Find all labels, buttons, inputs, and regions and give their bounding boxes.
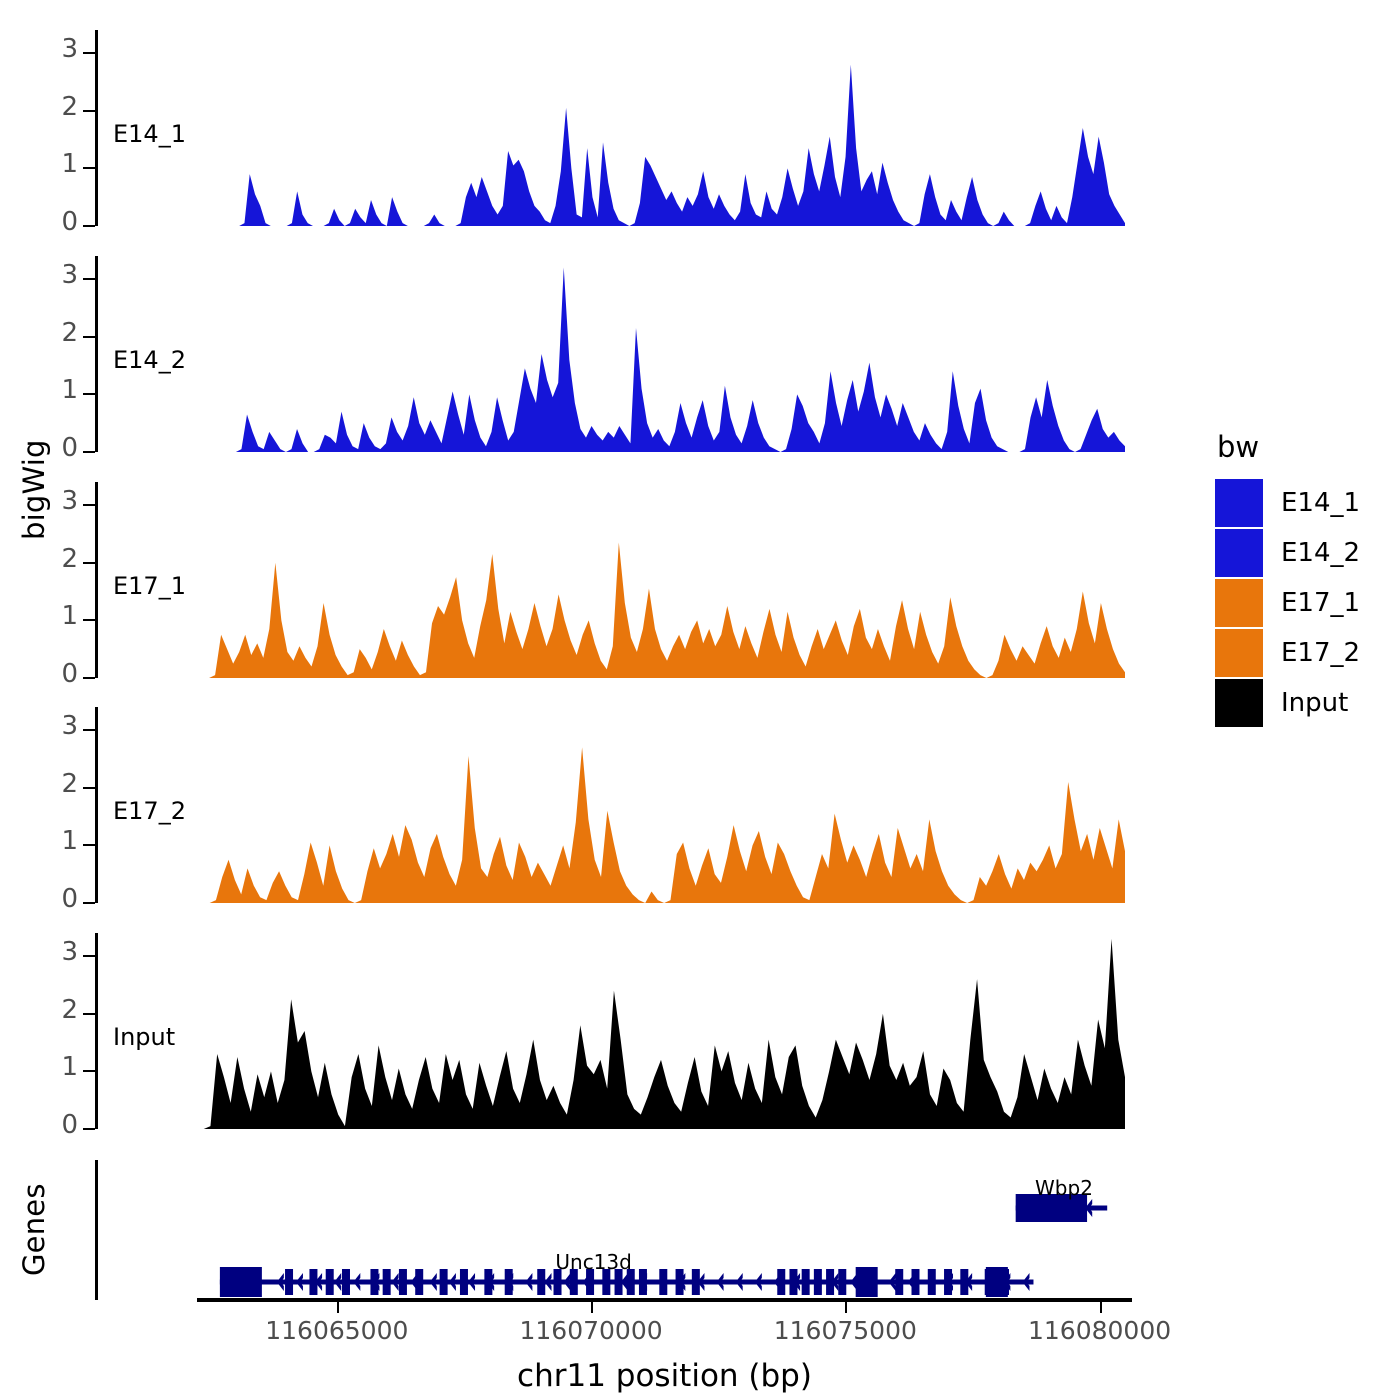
y-tick-E14_1-3 [83, 52, 95, 54]
x-tick-label-116065000: 116065000 [265, 1316, 408, 1345]
y-tick-label-E14_1-3: 3 [0, 36, 78, 62]
y-tick-E17_1-1 [83, 619, 95, 621]
y-tick-Input-0 [83, 1128, 95, 1130]
x-tick-116080000 [1100, 1302, 1102, 1313]
y-tick-E14_1-1 [83, 167, 95, 169]
y-tick-Input-1 [83, 1070, 95, 1072]
y-tick-label-E14_1-2: 2 [0, 94, 78, 120]
genes-axis-line [95, 1160, 98, 1300]
y-tick-E17_1-3 [83, 504, 95, 506]
legend-swatch-E17_1 [1215, 579, 1263, 627]
y-tick-label-E14_2-0: 0 [0, 435, 78, 461]
legend-label-E17_2: E17_2 [1281, 638, 1360, 668]
y-tick-label-E17_1-1: 1 [0, 603, 78, 629]
track-plot-E14_2 [197, 256, 1125, 452]
legend-item-Input[interactable]: Input [1215, 678, 1395, 728]
x-tick-label-116080000: 116080000 [1028, 1316, 1171, 1345]
x-tick-116075000 [845, 1302, 847, 1313]
y-tick-label-E14_2-2: 2 [0, 320, 78, 346]
waveform-E17_1 [197, 482, 1125, 678]
x-tick-116070000 [591, 1302, 593, 1313]
track-plot-Input [197, 933, 1125, 1129]
y-tick-E17_2-3 [83, 729, 95, 731]
legend-swatch-E14_2 [1215, 529, 1263, 577]
track-plot-E14_1 [197, 30, 1125, 226]
legend-item-E14_2[interactable]: E14_2 [1215, 528, 1395, 578]
y-tick-label-E17_2-0: 0 [0, 886, 78, 912]
y-tick-E17_2-1 [83, 844, 95, 846]
legend-item-E17_2[interactable]: E17_2 [1215, 628, 1395, 678]
track-plot-E17_1 [197, 482, 1125, 678]
track-plot-E17_2 [197, 707, 1125, 903]
waveform-Input [197, 933, 1125, 1129]
y-tick-label-Input-1: 1 [0, 1054, 78, 1080]
x-tick-label-116075000: 116075000 [774, 1316, 917, 1345]
track-label-E17_2: E17_2 [113, 797, 186, 825]
y-axis-line-E17_1 [95, 482, 98, 678]
y-tick-label-Input-3: 3 [0, 939, 78, 965]
gene-track [197, 1160, 1125, 1300]
y-tick-label-E14_1-0: 0 [0, 209, 78, 235]
y-tick-Input-2 [83, 1013, 95, 1015]
x-tick-label-116070000: 116070000 [520, 1316, 663, 1345]
legend-item-E14_1[interactable]: E14_1 [1215, 478, 1395, 528]
track-label-Input: Input [113, 1023, 175, 1051]
legend-items: E14_1E14_2E17_1E17_2Input [1215, 478, 1395, 728]
y-axis-label-genes: Genes [14, 1160, 54, 1300]
y-axis-line-E14_2 [95, 256, 98, 452]
y-tick-label-E17_2-3: 3 [0, 713, 78, 739]
y-tick-Input-3 [83, 955, 95, 957]
legend-title: bw [1217, 430, 1395, 464]
legend-label-Input: Input [1281, 688, 1348, 718]
gene-label-Wbp2: Wbp2 [1035, 1176, 1093, 1200]
track-label-E14_2: E14_2 [113, 346, 186, 374]
track-label-E17_1: E17_1 [113, 572, 186, 600]
x-axis-title: chr11 position (bp) [197, 1358, 1132, 1394]
y-tick-E14_2-0 [83, 451, 95, 453]
y-tick-label-E14_2-1: 1 [0, 377, 78, 403]
legend-label-E14_1: E14_1 [1281, 488, 1360, 518]
legend: bw E14_1E14_2E17_1E17_2Input [1215, 430, 1395, 728]
y-axis-line-E17_2 [95, 707, 98, 903]
waveform-E14_1 [197, 30, 1125, 226]
y-tick-label-E17_1-2: 2 [0, 546, 78, 572]
y-tick-E14_1-2 [83, 110, 95, 112]
gene-label-Unc13d: Unc13d [555, 1250, 631, 1274]
legend-swatch-Input [1215, 679, 1263, 727]
y-axis-line-E14_1 [95, 30, 98, 226]
y-tick-E17_1-2 [83, 562, 95, 564]
y-tick-E14_2-1 [83, 393, 95, 395]
y-tick-E17_2-2 [83, 787, 95, 789]
y-axis-line-Input [95, 933, 98, 1129]
y-tick-label-E17_2-2: 2 [0, 771, 78, 797]
legend-item-E17_1[interactable]: E17_1 [1215, 578, 1395, 628]
y-tick-label-Input-2: 2 [0, 997, 78, 1023]
y-tick-label-Input-0: 0 [0, 1112, 78, 1138]
legend-label-E17_1: E17_1 [1281, 588, 1360, 618]
waveform-E14_2 [197, 256, 1125, 452]
y-tick-label-E17_2-1: 1 [0, 828, 78, 854]
y-tick-label-E17_1-3: 3 [0, 488, 78, 514]
legend-swatch-E14_1 [1215, 479, 1263, 527]
y-tick-E17_2-0 [83, 902, 95, 904]
y-tick-label-E17_1-0: 0 [0, 661, 78, 687]
legend-label-E14_2: E14_2 [1281, 538, 1360, 568]
track-label-E14_1: E14_1 [113, 120, 186, 148]
x-tick-116065000 [337, 1302, 339, 1313]
y-tick-label-E14_2-3: 3 [0, 262, 78, 288]
waveform-E17_2 [197, 707, 1125, 903]
y-tick-E14_2-2 [83, 336, 95, 338]
y-tick-label-E14_1-1: 1 [0, 151, 78, 177]
legend-swatch-E17_2 [1215, 629, 1263, 677]
gene-models [197, 1160, 1125, 1300]
y-tick-E17_1-0 [83, 677, 95, 679]
y-tick-E14_2-3 [83, 278, 95, 280]
y-tick-E14_1-0 [83, 225, 95, 227]
